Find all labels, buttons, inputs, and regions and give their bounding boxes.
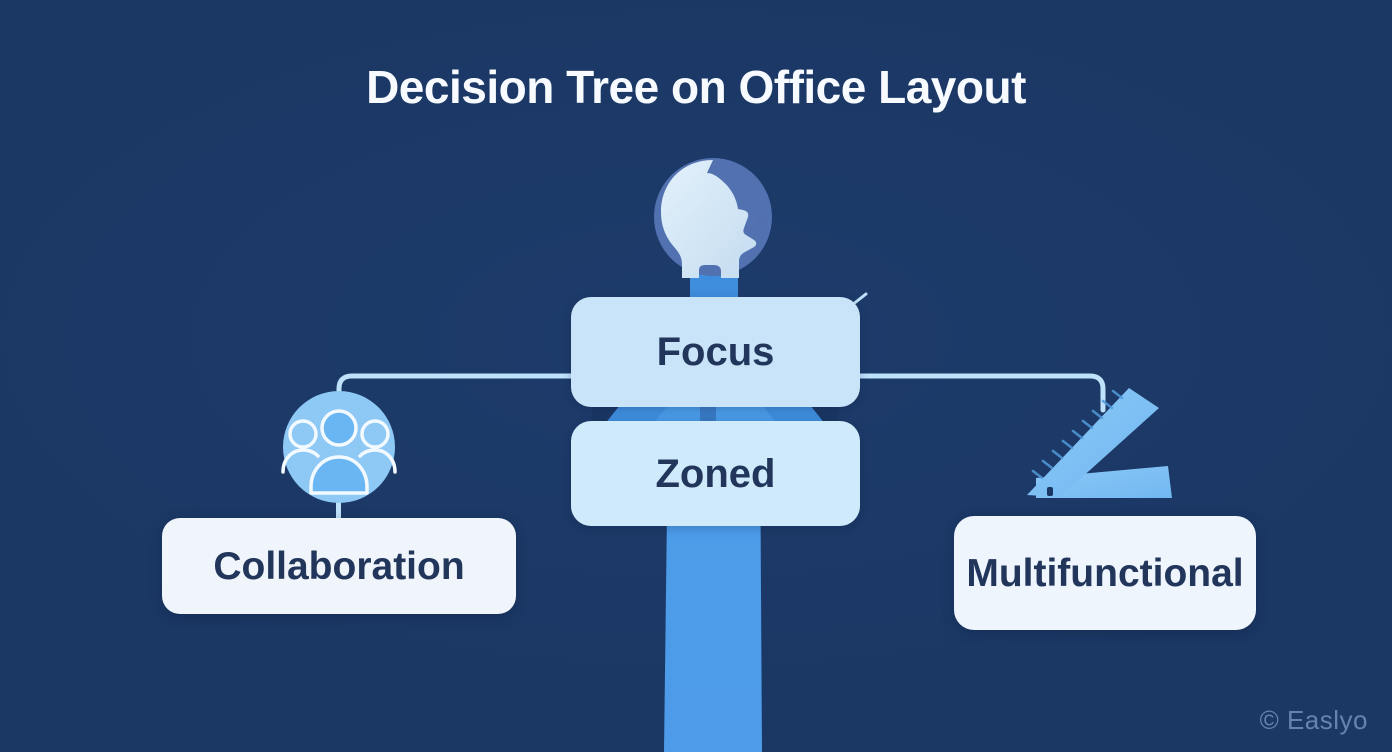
node-focus-label: Focus [657,332,775,372]
node-collaboration[interactable]: Collaboration [162,518,516,614]
head-profile-icon [654,158,772,278]
node-zoned[interactable]: Zoned [571,421,860,526]
angle-ruler-icon [1027,388,1172,498]
node-multifunctional[interactable]: Multifunctional [954,516,1256,630]
node-multifunctional-label: Multifunctional [966,554,1243,593]
node-collaboration-label: Collaboration [213,547,464,586]
people-group-icon [283,391,395,503]
infographic-canvas: Decision Tree on Office Layout Focus Zon… [0,0,1392,752]
node-focus[interactable]: Focus [571,297,860,407]
watermark: © Easlyo [1260,705,1368,736]
page-title: Decision Tree on Office Layout [0,60,1392,114]
connector-focus-to-multifunctional [860,376,1103,410]
node-zoned-label: Zoned [656,454,776,494]
